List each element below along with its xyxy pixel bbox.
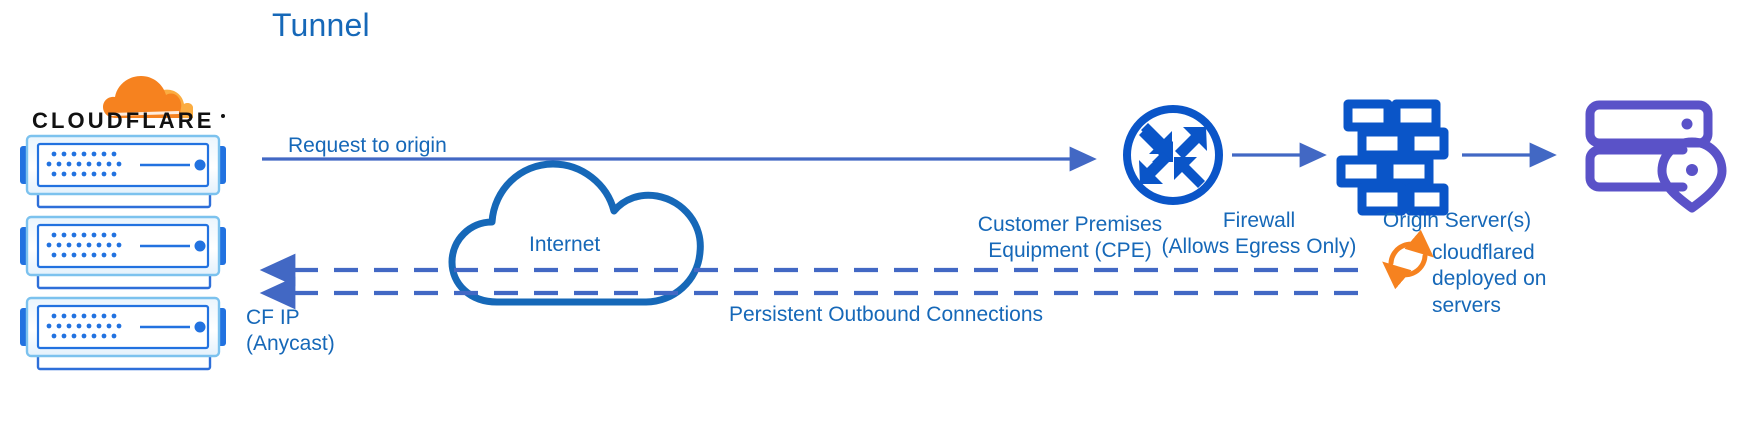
cloudflared-line-1: cloudflared [1432, 240, 1552, 266]
internet-label: Internet [529, 232, 600, 258]
request-to-origin-label: Request to origin [288, 133, 447, 159]
firewall-line-1: Firewall [1158, 208, 1360, 234]
cpe-label: Customer Premises Equipment (CPE) [948, 212, 1192, 263]
cloudflared-deployed-label: cloudflared deployed on servers [1432, 240, 1552, 319]
cloudflared-line-2: deployed on [1432, 266, 1552, 292]
origin-servers-label: Origin Server(s) [1377, 208, 1537, 234]
cpe-line-2: Equipment (CPE) [948, 238, 1192, 264]
sync-refresh-icon [1391, 244, 1425, 275]
persistent-outbound-connections-label: Persistent Outbound Connections [729, 302, 1043, 328]
firewall-label: Firewall (Allows Egress Only) [1158, 208, 1360, 259]
cf-ip-anycast-label: CF IP (Anycast) [246, 305, 335, 356]
server-location-pin-icon [1590, 105, 1722, 208]
cpe-line-1: Customer Premises [948, 212, 1192, 238]
cf-ip-line-2: (Anycast) [246, 331, 335, 357]
diagram-canvas: Tunnel CLOUDFLARE [0, 0, 1754, 422]
resize-arrows-circle-icon [1127, 109, 1219, 201]
brick-wall-icon [1341, 104, 1444, 211]
firewall-line-2: (Allows Egress Only) [1158, 234, 1360, 260]
cloudflared-line-3: servers [1432, 293, 1552, 319]
cf-ip-line-1: CF IP [246, 305, 335, 331]
